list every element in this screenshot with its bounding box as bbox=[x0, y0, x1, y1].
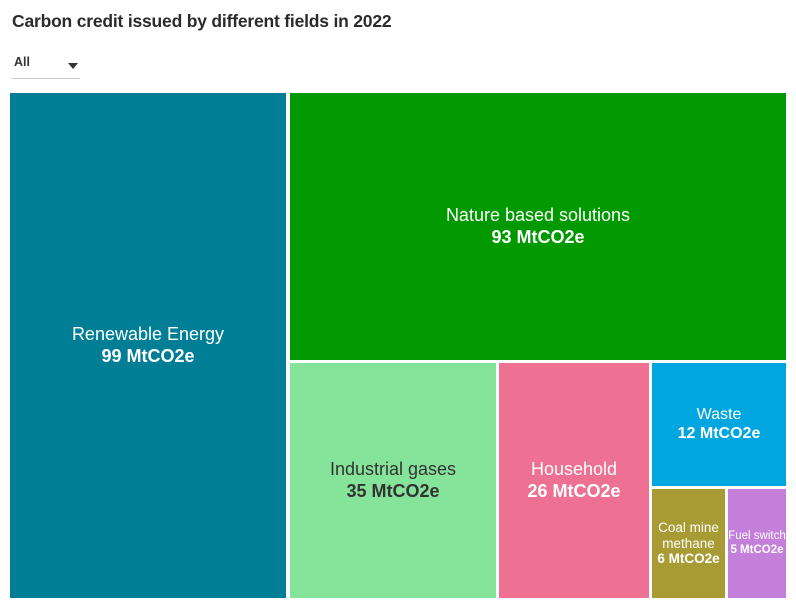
treemap-tile-fuel-switch[interactable]: Fuel switch 5 MtCO2e bbox=[728, 489, 786, 598]
treemap-tile-label: Household bbox=[531, 459, 617, 480]
treemap-tile-label: Coal mine methane bbox=[652, 520, 725, 552]
treemap-tile-value: 6 MtCO2e bbox=[657, 551, 719, 567]
treemap-tile-value: 5 MtCO2e bbox=[730, 544, 783, 558]
treemap-tile-coal-mine-methane[interactable]: Coal mine methane 6 MtCO2e bbox=[652, 489, 725, 598]
treemap-tile-value: 93 MtCO2e bbox=[491, 227, 584, 248]
treemap-tile-value: 26 MtCO2e bbox=[527, 481, 620, 502]
treemap-tile-value: 35 MtCO2e bbox=[346, 481, 439, 502]
treemap-tile-value: 99 MtCO2e bbox=[101, 346, 194, 367]
treemap-tile-renewable-energy[interactable]: Renewable Energy 99 MtCO2e bbox=[10, 93, 286, 598]
treemap-tile-household[interactable]: Household 26 MtCO2e bbox=[499, 363, 649, 598]
treemap-tile-nature-based-solutions[interactable]: Nature based solutions 93 MtCO2e bbox=[290, 93, 786, 360]
treemap-chart: Renewable Energy 99 MtCO2e Nature based … bbox=[10, 93, 786, 598]
treemap-tile-label: Waste bbox=[697, 406, 742, 425]
treemap-tile-waste[interactable]: Waste 12 MtCO2e bbox=[652, 363, 786, 486]
treemap-tile-label: Nature based solutions bbox=[446, 205, 630, 226]
chevron-down-icon bbox=[68, 63, 78, 69]
chart-title: Carbon credit issued by different fields… bbox=[12, 11, 391, 32]
treemap-tile-value: 12 MtCO2e bbox=[678, 425, 761, 444]
treemap-tile-industrial-gases[interactable]: Industrial gases 35 MtCO2e bbox=[290, 363, 496, 598]
treemap-tile-label: Renewable Energy bbox=[72, 324, 224, 345]
filter-dropdown-value: All bbox=[14, 55, 30, 69]
filter-dropdown[interactable]: All bbox=[12, 54, 80, 79]
treemap-tile-label: Fuel switch bbox=[728, 530, 786, 544]
treemap-tile-label: Industrial gases bbox=[330, 459, 456, 480]
